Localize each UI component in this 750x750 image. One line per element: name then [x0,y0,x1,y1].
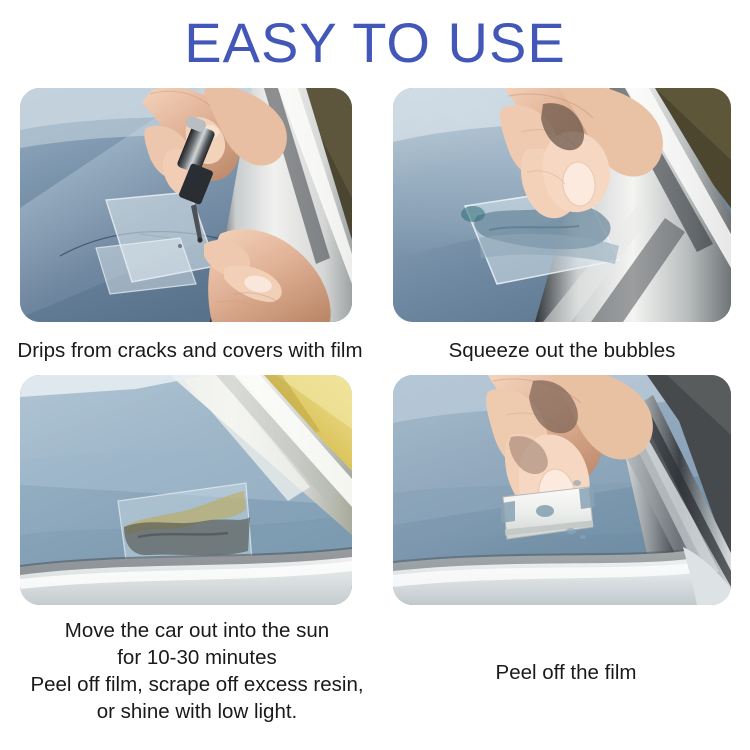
step-1-caption: Drips from cracks and covers with film [0,337,380,364]
step-3-illustration [20,375,352,605]
blade-notch-left [501,501,515,523]
step-1-illustration [20,88,352,322]
step-3-image [20,375,352,605]
instruction-infographic: EASY TO USE [0,0,750,750]
step-4-image [393,375,731,605]
blade-hole [536,505,554,517]
resin-pool [461,206,485,222]
blade-notch-right [579,487,595,509]
step-3-caption: Move the car out into the sun for 10-30 … [0,617,394,725]
page-title: EASY TO USE [0,14,750,72]
step-1-image [20,88,352,322]
step-4-illustration [393,375,731,605]
step-4-caption: Peel off the film [382,659,750,686]
step-2-caption: Squeeze out the bubbles [374,337,750,364]
step-2-illustration [393,88,731,322]
resin-residue [566,528,576,534]
step-2-image [393,88,731,322]
resin-drop [178,244,182,248]
